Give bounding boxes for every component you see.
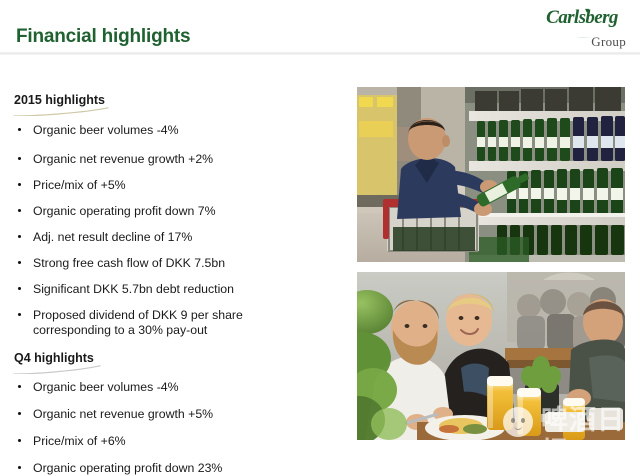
list-item-label: Price/mix of +6% [33, 434, 126, 448]
list-item-label: Organic beer volumes -4% [33, 123, 179, 137]
bullet-list-2015: Organic beer volumes -4% Organic net rev… [0, 123, 350, 323]
list-item: Organic operating profit down 23% [0, 461, 350, 476]
heading-swoosh-icon [12, 106, 172, 116]
list-item-label: Organic beer volumes -4% [33, 380, 179, 394]
bullet-dot-icon [18, 466, 21, 469]
list-item: Organic beer volumes -4% [0, 380, 350, 395]
list-item-label: Organic operating profit down 7% [33, 204, 216, 218]
hop-icon: ▾ [585, 7, 589, 15]
bullet-dot-icon [18, 287, 21, 290]
photo-supermarket-beer-aisle [357, 87, 625, 262]
bullet-dot-icon [18, 385, 21, 388]
bullet-dot-icon [18, 261, 21, 264]
logo-subtext: Group [536, 34, 626, 50]
bullet-dot-icon [18, 183, 21, 186]
list-item: Organic net revenue growth +2% [0, 152, 350, 167]
bullet-list-q4: Organic beer volumes -4% Organic net rev… [0, 380, 350, 476]
list-item: Significant DKK 5.7bn debt reduction [0, 282, 350, 297]
list-item-continuation: corresponding to a 30% pay-out [0, 323, 350, 338]
list-item: Proposed dividend of DKK 9 per share [0, 308, 350, 323]
list-item: Price/mix of +5% [0, 178, 350, 193]
highlights-column: 2015 highlights Organic beer volumes -4%… [0, 54, 350, 458]
list-item-label: Price/mix of +5% [33, 178, 126, 192]
bullet-dot-icon [18, 439, 21, 442]
bullet-dot-icon [18, 235, 21, 238]
list-item: Organic beer volumes -4% [0, 123, 350, 138]
bullet-dot-icon [18, 412, 21, 415]
list-item: Strong free cash flow of DKK 7.5bn [0, 256, 350, 271]
list-item: Organic net revenue growth +5% [0, 407, 350, 422]
photo-outdoor-dining-friends [357, 272, 625, 440]
list-item-label: Proposed dividend of DKK 9 per share [33, 308, 243, 322]
list-item: Adj. net result decline of 17% [0, 230, 350, 245]
section-heading-q4-label: Q4 highlights [14, 351, 94, 365]
section-heading-2015: 2015 highlights [14, 93, 350, 107]
list-item-label: Organic net revenue growth +5% [33, 407, 213, 421]
bullet-dot-icon [18, 157, 21, 160]
bullet-dot-icon [18, 209, 21, 212]
list-item: Organic operating profit down 7% [0, 204, 350, 219]
list-item-label: Adj. net result decline of 17% [33, 230, 192, 244]
page-title: Financial highlights [16, 26, 190, 48]
carlsberg-logo: Carlsberg ▾ Group [536, 8, 628, 48]
section-heading-2015-label: 2015 highlights [14, 93, 105, 107]
list-item-label: Significant DKK 5.7bn debt reduction [33, 282, 234, 296]
page-header: Financial highlights Carlsberg ▾ Group [0, 0, 640, 54]
list-item: Price/mix of +6% [0, 434, 350, 449]
logo-wordmark: Carlsberg [536, 8, 628, 28]
section-heading-q4: Q4 highlights [14, 351, 350, 365]
list-item-label: Strong free cash flow of DKK 7.5bn [33, 256, 225, 270]
list-item-label: Organic operating profit down 23% [33, 461, 222, 475]
list-item-label: Organic net revenue growth +2% [33, 152, 213, 166]
bullet-dot-icon [18, 313, 21, 316]
bullet-dot-icon [18, 128, 21, 131]
heading-swoosh-icon [12, 364, 172, 374]
